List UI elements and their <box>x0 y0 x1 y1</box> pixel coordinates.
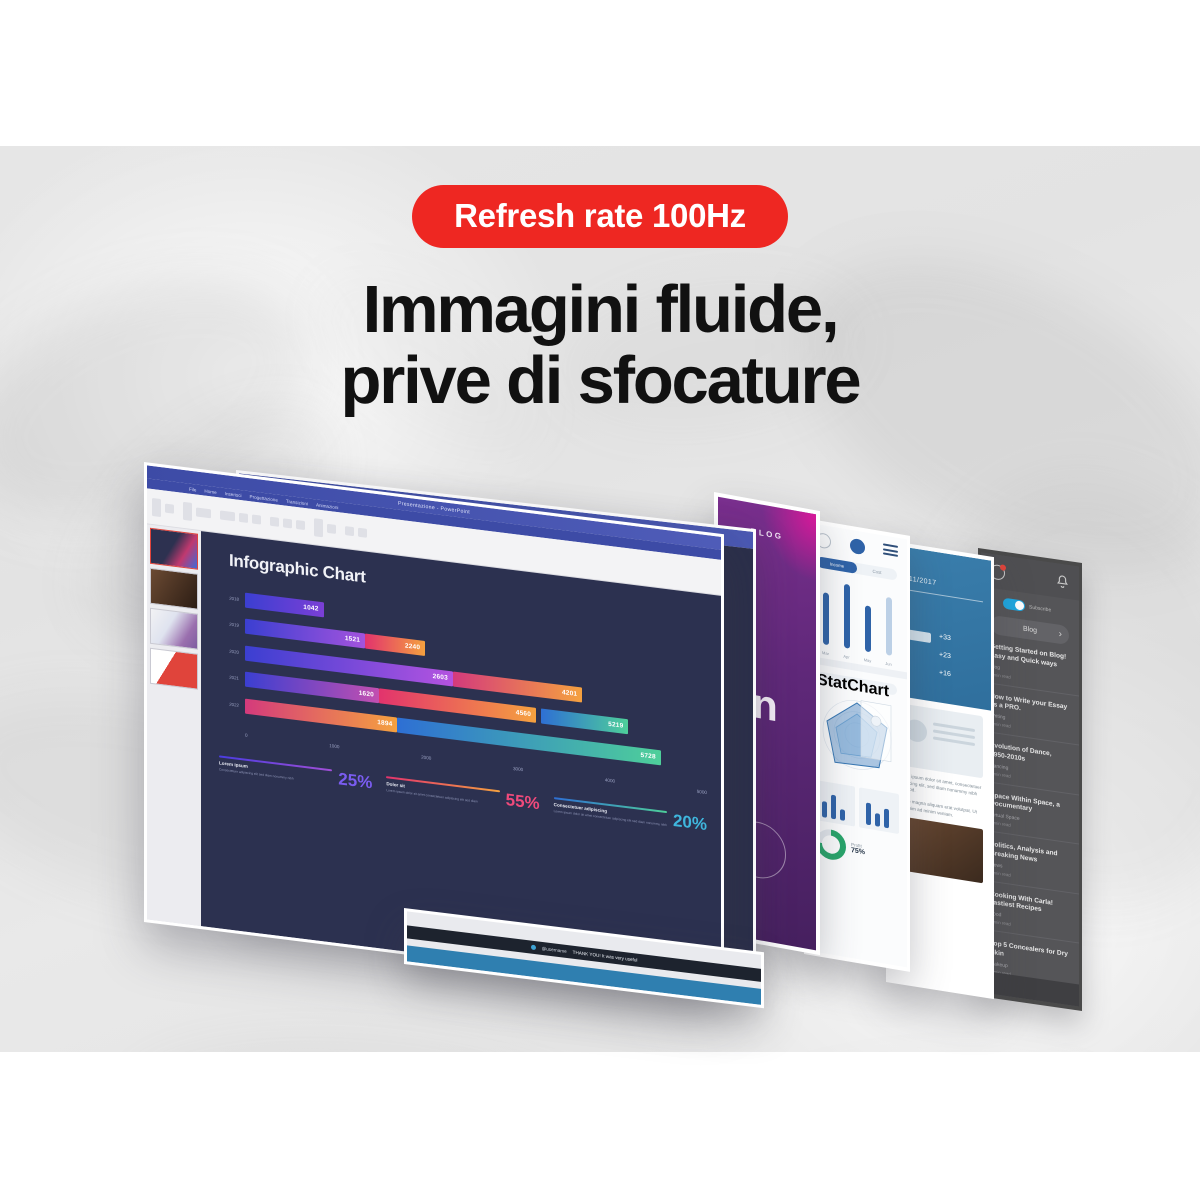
paste-icon[interactable] <box>152 497 161 516</box>
category-label: 2020 <box>217 647 245 655</box>
ribbon-group-drawing[interactable] <box>314 518 336 539</box>
bold-icon[interactable] <box>239 513 248 523</box>
delta-value: +23 <box>939 651 951 660</box>
axis-tick-label: 0 <box>245 733 248 738</box>
radar-chart <box>807 681 907 790</box>
bar-label: Jun <box>885 661 891 667</box>
bar: Jun <box>886 597 892 656</box>
shapes-icon[interactable] <box>314 518 323 537</box>
blog-category-label: Blog <box>1023 625 1037 634</box>
bell-icon[interactable] <box>1055 573 1070 590</box>
bar-value-label: 4201 <box>562 689 577 698</box>
bar-value-label: 4560 <box>516 709 531 718</box>
bar-label: May <box>864 657 872 663</box>
stat-value: 55% <box>506 791 540 812</box>
bar-segment: 5219 <box>541 708 629 734</box>
testimonial-username: @username <box>542 946 567 954</box>
slide-thumbnail-4[interactable] <box>150 648 198 690</box>
headline-line-2: prive di sfocature <box>0 345 1200 416</box>
bar: Apr <box>844 584 850 649</box>
bullets-icon[interactable] <box>296 520 305 530</box>
radar-chart-svg <box>807 681 907 790</box>
placeholder-lines <box>933 722 975 750</box>
tab-animations[interactable]: Animazioni <box>316 502 338 510</box>
slide-thumbnail-3[interactable] <box>150 608 198 650</box>
bar-value-label: 5219 <box>608 721 623 730</box>
stat-block: Lorem ipsum Consectetuer adipiscing elit… <box>219 755 372 791</box>
find-icon[interactable] <box>345 526 354 536</box>
bar-value-label: 1620 <box>359 690 374 699</box>
avatar <box>531 945 536 951</box>
bar-value-label: 1521 <box>345 635 360 644</box>
cut-icon[interactable] <box>165 504 174 514</box>
screens-fan: Subscribe Blog Getting Started on Blog! … <box>0 0 1200 1200</box>
bar: May <box>865 605 871 652</box>
refresh-rate-badge: Refresh rate 100Hz <box>412 185 788 248</box>
ribbon-group-font[interactable] <box>220 510 261 524</box>
donut-value: 75% <box>851 847 865 856</box>
align-left-icon[interactable] <box>270 517 279 527</box>
bar-value-label: 2240 <box>405 642 420 651</box>
new-slide-icon[interactable] <box>183 501 192 520</box>
stat-block: Dolor sit Lorem ipsum dolor sit amet con… <box>386 776 539 812</box>
mini-card <box>859 787 899 834</box>
ribbon-group-clipboard[interactable] <box>152 497 174 518</box>
bar: Mar <box>823 592 829 645</box>
delta-value: +33 <box>939 633 951 642</box>
bar-label: Apr <box>843 654 849 660</box>
bar-chart: Mar Apr May Jun <box>807 566 907 673</box>
bar-value-label: 1042 <box>303 603 318 612</box>
layout-icon[interactable] <box>196 507 211 518</box>
bar-segment: 2240 <box>365 634 425 656</box>
font-name-box[interactable] <box>220 510 235 521</box>
axis-tick-label: 3000 <box>513 766 523 772</box>
stat-block: Consectetuer adipiscing Lorem ipsum dolo… <box>554 797 707 833</box>
bar-segment: 1042 <box>245 592 324 617</box>
axis-tick-label: 2000 <box>421 755 431 761</box>
ribbon-group-editing[interactable] <box>345 526 367 538</box>
axis-tick-label: 1000 <box>329 743 339 749</box>
italic-icon[interactable] <box>252 514 261 524</box>
stat-value: 20% <box>673 812 707 833</box>
stat-value: 25% <box>338 770 372 791</box>
testimonial-message: THANK YOU! It was very useful <box>573 950 638 963</box>
arrange-icon[interactable] <box>327 524 336 534</box>
notification-dot <box>1000 564 1006 571</box>
bar-value-label: 1894 <box>377 719 392 728</box>
category-label: 2018 <box>217 594 245 602</box>
hero-section: Refresh rate 100Hz Immagini fluide, priv… <box>0 185 1200 416</box>
chart-title: Infographic Chart <box>229 551 366 588</box>
replace-icon[interactable] <box>358 528 367 538</box>
ribbon-group-paragraph[interactable] <box>270 517 305 530</box>
page-title: Immagini fluide, prive di sfocature <box>0 274 1200 416</box>
bar-value-label: 2603 <box>433 672 448 681</box>
category-label: 2019 <box>217 620 245 628</box>
headline-line-1: Immagini fluide, <box>0 274 1200 345</box>
menu-icon[interactable] <box>883 543 898 559</box>
donut-chart <box>816 827 846 862</box>
tab-file[interactable]: File <box>189 486 196 492</box>
slide-thumbnail-panel[interactable] <box>147 524 201 926</box>
infographic-bar-chart: 2018 1042 2019 <box>217 585 707 778</box>
mini-card <box>815 780 855 827</box>
category-label: 2021 <box>217 673 245 681</box>
align-center-icon[interactable] <box>283 518 292 528</box>
bar-label: Mar <box>822 650 829 656</box>
slide-thumbnail-2[interactable] <box>150 568 198 610</box>
tab-insert[interactable]: Inserisci <box>225 491 242 498</box>
tab-home[interactable]: Home <box>204 488 216 495</box>
subscribe-toggle-label: Subscribe <box>1029 604 1051 613</box>
user-badge-icon[interactable] <box>850 537 865 555</box>
delta-value: +16 <box>939 669 951 678</box>
axis-tick-label: 5000 <box>697 789 707 795</box>
ribbon-group-slides[interactable] <box>183 501 211 522</box>
axis-tick-label: 4000 <box>605 777 615 783</box>
subscribe-toggle[interactable] <box>1003 598 1025 612</box>
slide-thumbnail-1[interactable] <box>150 528 198 570</box>
bar-value-label: 5728 <box>641 751 656 760</box>
category-label: 2022 <box>217 700 245 708</box>
tab-transitions[interactable]: Transizioni <box>286 498 308 506</box>
